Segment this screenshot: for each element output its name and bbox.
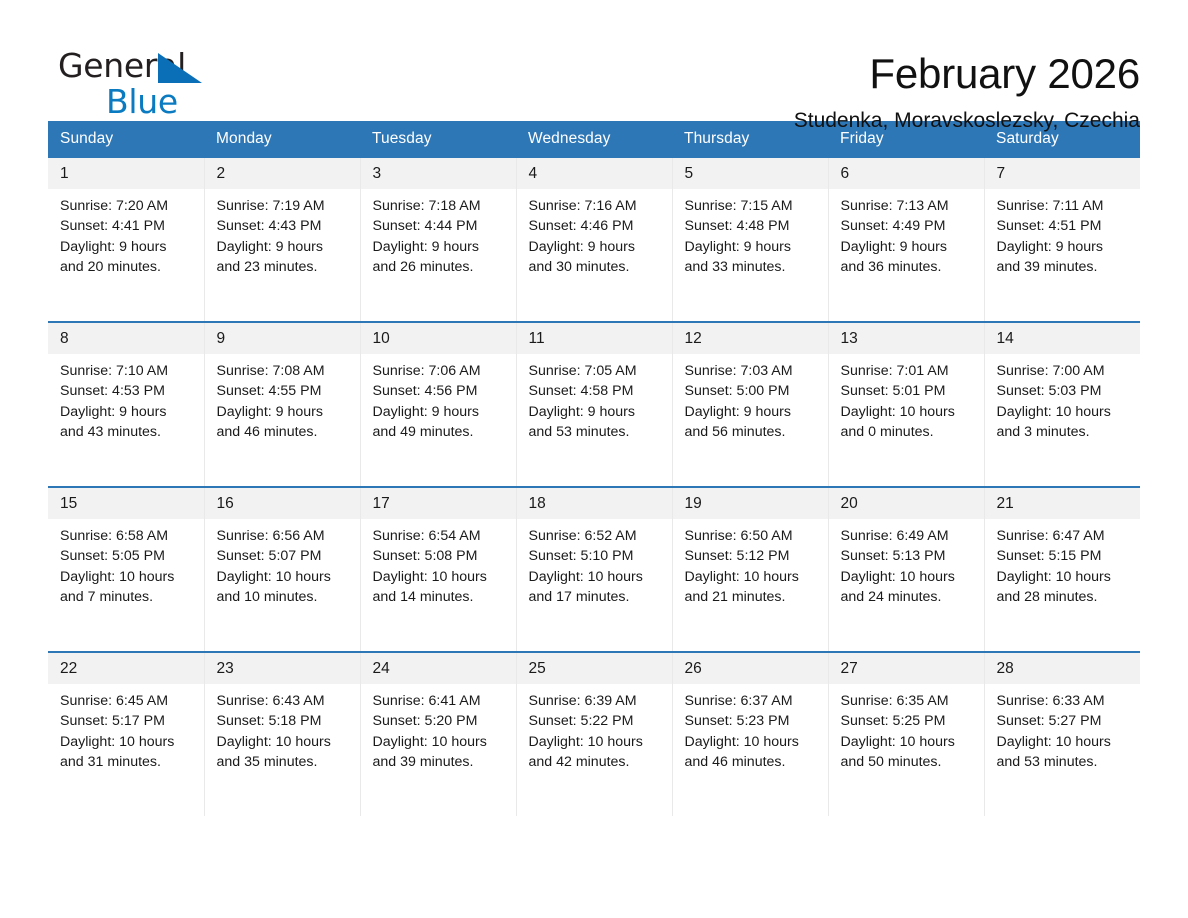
day-number: 17	[361, 488, 516, 519]
day-details: Sunrise: 6:56 AMSunset: 5:07 PMDaylight:…	[205, 519, 360, 608]
calendar-day-cell[interactable]: 14Sunrise: 7:00 AMSunset: 5:03 PMDayligh…	[984, 322, 1140, 487]
day-details: Sunrise: 6:49 AMSunset: 5:13 PMDaylight:…	[829, 519, 984, 608]
daylight-line1-text: Daylight: 10 hours	[373, 567, 506, 587]
calendar-day-cell[interactable]: 15Sunrise: 6:58 AMSunset: 5:05 PMDayligh…	[48, 487, 204, 652]
logo-text-blue: Blue	[106, 85, 318, 119]
daylight-line1-text: Daylight: 10 hours	[997, 732, 1131, 752]
daylight-line2-text: and 23 minutes.	[217, 257, 350, 277]
day-number: 18	[517, 488, 672, 519]
daylight-line1-text: Daylight: 9 hours	[997, 237, 1131, 257]
daylight-line1-text: Daylight: 10 hours	[529, 567, 662, 587]
sunset-text: Sunset: 4:48 PM	[685, 216, 818, 236]
sunset-text: Sunset: 5:22 PM	[529, 711, 662, 731]
sunset-text: Sunset: 5:00 PM	[685, 381, 818, 401]
day-details: Sunrise: 7:08 AMSunset: 4:55 PMDaylight:…	[205, 354, 360, 443]
sunrise-text: Sunrise: 6:35 AM	[841, 691, 974, 711]
calendar-day-cell[interactable]: 4Sunrise: 7:16 AMSunset: 4:46 PMDaylight…	[516, 158, 672, 322]
daylight-line2-text: and 17 minutes.	[529, 587, 662, 607]
sunset-text: Sunset: 5:07 PM	[217, 546, 350, 566]
sunset-text: Sunset: 4:51 PM	[997, 216, 1131, 236]
day-details: Sunrise: 6:52 AMSunset: 5:10 PMDaylight:…	[517, 519, 672, 608]
sunrise-text: Sunrise: 6:39 AM	[529, 691, 662, 711]
day-details: Sunrise: 7:19 AMSunset: 4:43 PMDaylight:…	[205, 189, 360, 278]
day-details: Sunrise: 7:13 AMSunset: 4:49 PMDaylight:…	[829, 189, 984, 278]
daylight-line2-text: and 28 minutes.	[997, 587, 1131, 607]
sunrise-text: Sunrise: 7:11 AM	[997, 196, 1131, 216]
day-number: 21	[985, 488, 1141, 519]
day-details: Sunrise: 7:03 AMSunset: 5:00 PMDaylight:…	[673, 354, 828, 443]
sunset-text: Sunset: 5:18 PM	[217, 711, 350, 731]
title-block: February 2026 Studenka, Moravskoslezsky,…	[794, 0, 1140, 136]
daylight-line1-text: Daylight: 10 hours	[373, 732, 506, 752]
location-subtitle: Studenka, Moravskoslezsky, Czechia	[794, 106, 1140, 136]
page-header: General Blue February 2026 Studenka, Mor…	[48, 0, 1140, 110]
calendar-week-row: 15Sunrise: 6:58 AMSunset: 5:05 PMDayligh…	[48, 487, 1140, 652]
daylight-line2-text: and 10 minutes.	[217, 587, 350, 607]
daylight-line1-text: Daylight: 9 hours	[685, 402, 818, 422]
daylight-line2-text: and 24 minutes.	[841, 587, 974, 607]
daylight-line1-text: Daylight: 9 hours	[217, 402, 350, 422]
calendar-day-cell[interactable]: 27Sunrise: 6:35 AMSunset: 5:25 PMDayligh…	[828, 652, 984, 816]
daylight-line2-text: and 56 minutes.	[685, 422, 818, 442]
calendar-day-cell[interactable]: 3Sunrise: 7:18 AMSunset: 4:44 PMDaylight…	[360, 158, 516, 322]
calendar-day-cell[interactable]: 2Sunrise: 7:19 AMSunset: 4:43 PMDaylight…	[204, 158, 360, 322]
daylight-line2-text: and 46 minutes.	[217, 422, 350, 442]
daylight-line1-text: Daylight: 10 hours	[217, 567, 350, 587]
daylight-line1-text: Daylight: 10 hours	[529, 732, 662, 752]
calendar-day-cell[interactable]: 26Sunrise: 6:37 AMSunset: 5:23 PMDayligh…	[672, 652, 828, 816]
sunrise-text: Sunrise: 7:13 AM	[841, 196, 974, 216]
calendar-day-cell[interactable]: 1Sunrise: 7:20 AMSunset: 4:41 PMDaylight…	[48, 158, 204, 322]
day-details: Sunrise: 6:39 AMSunset: 5:22 PMDaylight:…	[517, 684, 672, 773]
daylight-line1-text: Daylight: 9 hours	[60, 402, 194, 422]
sunrise-text: Sunrise: 7:08 AM	[217, 361, 350, 381]
sunset-text: Sunset: 5:20 PM	[373, 711, 506, 731]
daylight-line1-text: Daylight: 10 hours	[60, 732, 194, 752]
sunrise-text: Sunrise: 6:43 AM	[217, 691, 350, 711]
logo-triangle-icon	[158, 53, 202, 83]
sunrise-sunset-calendar: SundayMondayTuesdayWednesdayThursdayFrid…	[48, 121, 1140, 816]
day-number: 4	[517, 158, 672, 189]
calendar-day-cell[interactable]: 24Sunrise: 6:41 AMSunset: 5:20 PMDayligh…	[360, 652, 516, 816]
daylight-line1-text: Daylight: 9 hours	[373, 402, 506, 422]
day-number: 11	[517, 323, 672, 354]
daylight-line2-text: and 49 minutes.	[373, 422, 506, 442]
sunrise-text: Sunrise: 7:06 AM	[373, 361, 506, 381]
sunset-text: Sunset: 5:27 PM	[997, 711, 1131, 731]
sunset-text: Sunset: 4:56 PM	[373, 381, 506, 401]
daylight-line1-text: Daylight: 9 hours	[841, 237, 974, 257]
sunset-text: Sunset: 5:17 PM	[60, 711, 194, 731]
sunrise-text: Sunrise: 6:47 AM	[997, 526, 1131, 546]
day-number: 5	[673, 158, 828, 189]
daylight-line1-text: Daylight: 9 hours	[373, 237, 506, 257]
page-title: February 2026	[794, 46, 1140, 102]
sunset-text: Sunset: 5:23 PM	[685, 711, 818, 731]
calendar-day-cell[interactable]: 17Sunrise: 6:54 AMSunset: 5:08 PMDayligh…	[360, 487, 516, 652]
day-details: Sunrise: 7:16 AMSunset: 4:46 PMDaylight:…	[517, 189, 672, 278]
weekday-header-monday: Monday	[204, 121, 360, 158]
daylight-line2-text: and 31 minutes.	[60, 752, 194, 772]
daylight-line1-text: Daylight: 9 hours	[529, 237, 662, 257]
day-details: Sunrise: 7:05 AMSunset: 4:58 PMDaylight:…	[517, 354, 672, 443]
daylight-line2-text: and 20 minutes.	[60, 257, 194, 277]
sunrise-text: Sunrise: 7:00 AM	[997, 361, 1131, 381]
day-details: Sunrise: 7:11 AMSunset: 4:51 PMDaylight:…	[985, 189, 1141, 278]
day-number: 22	[48, 653, 204, 684]
calendar-day-cell[interactable]: 16Sunrise: 6:56 AMSunset: 5:07 PMDayligh…	[204, 487, 360, 652]
sunrise-text: Sunrise: 7:16 AM	[529, 196, 662, 216]
calendar-day-cell[interactable]: 22Sunrise: 6:45 AMSunset: 5:17 PMDayligh…	[48, 652, 204, 816]
day-details: Sunrise: 7:06 AMSunset: 4:56 PMDaylight:…	[361, 354, 516, 443]
daylight-line1-text: Daylight: 10 hours	[60, 567, 194, 587]
sunrise-text: Sunrise: 6:52 AM	[529, 526, 662, 546]
day-number: 2	[205, 158, 360, 189]
day-number: 7	[985, 158, 1141, 189]
day-number: 6	[829, 158, 984, 189]
day-details: Sunrise: 6:47 AMSunset: 5:15 PMDaylight:…	[985, 519, 1141, 608]
day-details: Sunrise: 7:20 AMSunset: 4:41 PMDaylight:…	[48, 189, 204, 278]
calendar-day-cell[interactable]: 9Sunrise: 7:08 AMSunset: 4:55 PMDaylight…	[204, 322, 360, 487]
daylight-line2-text: and 39 minutes.	[997, 257, 1131, 277]
day-number: 14	[985, 323, 1141, 354]
calendar-day-cell[interactable]: 7Sunrise: 7:11 AMSunset: 4:51 PMDaylight…	[984, 158, 1140, 322]
sunset-text: Sunset: 4:43 PM	[217, 216, 350, 236]
day-number: 12	[673, 323, 828, 354]
sunrise-text: Sunrise: 7:18 AM	[373, 196, 506, 216]
daylight-line2-text: and 0 minutes.	[841, 422, 974, 442]
day-details: Sunrise: 6:45 AMSunset: 5:17 PMDaylight:…	[48, 684, 204, 773]
daylight-line1-text: Daylight: 9 hours	[685, 237, 818, 257]
sunrise-text: Sunrise: 7:05 AM	[529, 361, 662, 381]
day-number: 8	[48, 323, 204, 354]
sunrise-text: Sunrise: 6:41 AM	[373, 691, 506, 711]
daylight-line2-text: and 33 minutes.	[685, 257, 818, 277]
sunset-text: Sunset: 5:08 PM	[373, 546, 506, 566]
daylight-line2-text: and 39 minutes.	[373, 752, 506, 772]
calendar-week-row: 8Sunrise: 7:10 AMSunset: 4:53 PMDaylight…	[48, 322, 1140, 487]
calendar-day-cell[interactable]: 23Sunrise: 6:43 AMSunset: 5:18 PMDayligh…	[204, 652, 360, 816]
daylight-line1-text: Daylight: 9 hours	[60, 237, 194, 257]
sunset-text: Sunset: 5:25 PM	[841, 711, 974, 731]
calendar-day-cell[interactable]: 13Sunrise: 7:01 AMSunset: 5:01 PMDayligh…	[828, 322, 984, 487]
sunset-text: Sunset: 4:58 PM	[529, 381, 662, 401]
daylight-line2-text: and 53 minutes.	[529, 422, 662, 442]
sunset-text: Sunset: 4:46 PM	[529, 216, 662, 236]
generalblue-logo[interactable]: General Blue	[58, 47, 318, 119]
day-number: 13	[829, 323, 984, 354]
sunrise-text: Sunrise: 6:54 AM	[373, 526, 506, 546]
day-number: 16	[205, 488, 360, 519]
calendar-day-cell[interactable]: 25Sunrise: 6:39 AMSunset: 5:22 PMDayligh…	[516, 652, 672, 816]
daylight-line1-text: Daylight: 10 hours	[841, 567, 974, 587]
calendar-page: General Blue February 2026 Studenka, Mor…	[0, 0, 1188, 918]
daylight-line2-text: and 30 minutes.	[529, 257, 662, 277]
calendar-body: 1Sunrise: 7:20 AMSunset: 4:41 PMDaylight…	[48, 158, 1140, 816]
logo-top-row: General	[58, 47, 318, 85]
sunset-text: Sunset: 4:49 PM	[841, 216, 974, 236]
day-details: Sunrise: 7:00 AMSunset: 5:03 PMDaylight:…	[985, 354, 1141, 443]
day-number: 25	[517, 653, 672, 684]
day-number: 24	[361, 653, 516, 684]
sunrise-text: Sunrise: 6:50 AM	[685, 526, 818, 546]
day-number: 20	[829, 488, 984, 519]
calendar-day-cell[interactable]: 8Sunrise: 7:10 AMSunset: 4:53 PMDaylight…	[48, 322, 204, 487]
day-details: Sunrise: 6:54 AMSunset: 5:08 PMDaylight:…	[361, 519, 516, 608]
sunset-text: Sunset: 4:55 PM	[217, 381, 350, 401]
daylight-line1-text: Daylight: 9 hours	[217, 237, 350, 257]
day-details: Sunrise: 7:15 AMSunset: 4:48 PMDaylight:…	[673, 189, 828, 278]
sunset-text: Sunset: 5:12 PM	[685, 546, 818, 566]
daylight-line2-text: and 3 minutes.	[997, 422, 1131, 442]
sunrise-text: Sunrise: 6:58 AM	[60, 526, 194, 546]
day-details: Sunrise: 6:37 AMSunset: 5:23 PMDaylight:…	[673, 684, 828, 773]
daylight-line1-text: Daylight: 10 hours	[685, 567, 818, 587]
sunrise-text: Sunrise: 7:15 AM	[685, 196, 818, 216]
calendar-day-cell[interactable]: 6Sunrise: 7:13 AMSunset: 4:49 PMDaylight…	[828, 158, 984, 322]
day-number: 3	[361, 158, 516, 189]
weekday-header-sunday: Sunday	[48, 121, 204, 158]
calendar-day-cell[interactable]: 18Sunrise: 6:52 AMSunset: 5:10 PMDayligh…	[516, 487, 672, 652]
day-details: Sunrise: 6:50 AMSunset: 5:12 PMDaylight:…	[673, 519, 828, 608]
daylight-line2-text: and 7 minutes.	[60, 587, 194, 607]
sunset-text: Sunset: 5:10 PM	[529, 546, 662, 566]
calendar-week-row: 22Sunrise: 6:45 AMSunset: 5:17 PMDayligh…	[48, 652, 1140, 816]
calendar-day-cell[interactable]: 12Sunrise: 7:03 AMSunset: 5:00 PMDayligh…	[672, 322, 828, 487]
daylight-line1-text: Daylight: 10 hours	[997, 402, 1131, 422]
sunrise-text: Sunrise: 6:33 AM	[997, 691, 1131, 711]
calendar-day-cell[interactable]: 19Sunrise: 6:50 AMSunset: 5:12 PMDayligh…	[672, 487, 828, 652]
daylight-line2-text: and 21 minutes.	[685, 587, 818, 607]
day-number: 23	[205, 653, 360, 684]
day-details: Sunrise: 7:01 AMSunset: 5:01 PMDaylight:…	[829, 354, 984, 443]
sunrise-text: Sunrise: 7:20 AM	[60, 196, 194, 216]
weekday-header-tuesday: Tuesday	[360, 121, 516, 158]
daylight-line1-text: Daylight: 10 hours	[217, 732, 350, 752]
daylight-line2-text: and 50 minutes.	[841, 752, 974, 772]
daylight-line2-text: and 46 minutes.	[685, 752, 818, 772]
daylight-line1-text: Daylight: 9 hours	[529, 402, 662, 422]
day-number: 27	[829, 653, 984, 684]
sunset-text: Sunset: 5:01 PM	[841, 381, 974, 401]
day-number: 19	[673, 488, 828, 519]
daylight-line2-text: and 36 minutes.	[841, 257, 974, 277]
day-details: Sunrise: 6:43 AMSunset: 5:18 PMDaylight:…	[205, 684, 360, 773]
sunrise-text: Sunrise: 7:19 AM	[217, 196, 350, 216]
calendar-week-row: 1Sunrise: 7:20 AMSunset: 4:41 PMDaylight…	[48, 158, 1140, 322]
daylight-line1-text: Daylight: 10 hours	[997, 567, 1131, 587]
daylight-line1-text: Daylight: 10 hours	[841, 402, 974, 422]
daylight-line1-text: Daylight: 10 hours	[685, 732, 818, 752]
day-details: Sunrise: 6:35 AMSunset: 5:25 PMDaylight:…	[829, 684, 984, 773]
sunset-text: Sunset: 4:53 PM	[60, 381, 194, 401]
day-number: 10	[361, 323, 516, 354]
sunset-text: Sunset: 5:03 PM	[997, 381, 1131, 401]
day-number: 9	[205, 323, 360, 354]
daylight-line2-text: and 14 minutes.	[373, 587, 506, 607]
day-details: Sunrise: 7:10 AMSunset: 4:53 PMDaylight:…	[48, 354, 204, 443]
weekday-header-wednesday: Wednesday	[516, 121, 672, 158]
calendar-day-cell[interactable]: 5Sunrise: 7:15 AMSunset: 4:48 PMDaylight…	[672, 158, 828, 322]
daylight-line2-text: and 53 minutes.	[997, 752, 1131, 772]
day-number: 15	[48, 488, 204, 519]
sunrise-text: Sunrise: 7:01 AM	[841, 361, 974, 381]
daylight-line2-text: and 42 minutes.	[529, 752, 662, 772]
sunset-text: Sunset: 4:41 PM	[60, 216, 194, 236]
day-number: 28	[985, 653, 1141, 684]
calendar-day-cell[interactable]: 21Sunrise: 6:47 AMSunset: 5:15 PMDayligh…	[984, 487, 1140, 652]
sunrise-text: Sunrise: 6:45 AM	[60, 691, 194, 711]
daylight-line2-text: and 43 minutes.	[60, 422, 194, 442]
sunset-text: Sunset: 5:13 PM	[841, 546, 974, 566]
sunrise-text: Sunrise: 6:56 AM	[217, 526, 350, 546]
sunrise-text: Sunrise: 6:49 AM	[841, 526, 974, 546]
sunrise-text: Sunrise: 7:10 AM	[60, 361, 194, 381]
calendar-day-cell[interactable]: 11Sunrise: 7:05 AMSunset: 4:58 PMDayligh…	[516, 322, 672, 487]
day-details: Sunrise: 6:41 AMSunset: 5:20 PMDaylight:…	[361, 684, 516, 773]
sunset-text: Sunset: 4:44 PM	[373, 216, 506, 236]
day-details: Sunrise: 7:18 AMSunset: 4:44 PMDaylight:…	[361, 189, 516, 278]
calendar-day-cell[interactable]: 20Sunrise: 6:49 AMSunset: 5:13 PMDayligh…	[828, 487, 984, 652]
daylight-line2-text: and 35 minutes.	[217, 752, 350, 772]
sunrise-text: Sunrise: 7:03 AM	[685, 361, 818, 381]
sunset-text: Sunset: 5:05 PM	[60, 546, 194, 566]
calendar-day-cell[interactable]: 10Sunrise: 7:06 AMSunset: 4:56 PMDayligh…	[360, 322, 516, 487]
sunrise-text: Sunrise: 6:37 AM	[685, 691, 818, 711]
day-details: Sunrise: 6:33 AMSunset: 5:27 PMDaylight:…	[985, 684, 1141, 773]
daylight-line1-text: Daylight: 10 hours	[841, 732, 974, 752]
day-number: 1	[48, 158, 204, 189]
calendar-day-cell[interactable]: 28Sunrise: 6:33 AMSunset: 5:27 PMDayligh…	[984, 652, 1140, 816]
day-number: 26	[673, 653, 828, 684]
sunset-text: Sunset: 5:15 PM	[997, 546, 1131, 566]
day-details: Sunrise: 6:58 AMSunset: 5:05 PMDaylight:…	[48, 519, 204, 608]
daylight-line2-text: and 26 minutes.	[373, 257, 506, 277]
